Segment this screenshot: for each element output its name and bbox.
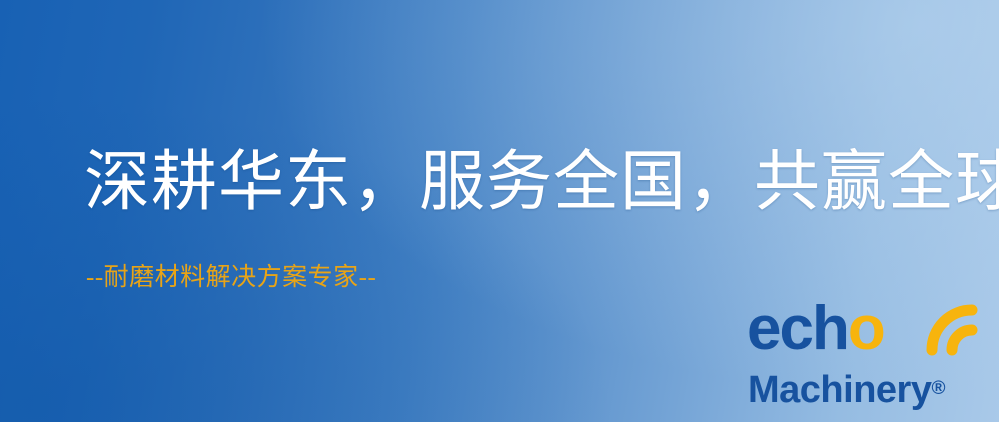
logo-wordmark-prefix: ech bbox=[747, 294, 848, 363]
logo-subtext-label: Machinery bbox=[748, 369, 931, 411]
signal-arcs-icon bbox=[916, 296, 994, 366]
logo-subtext: Machinery® bbox=[748, 371, 945, 409]
company-logo[interactable]: echo Machinery® bbox=[742, 296, 994, 418]
page-subtitle: --耐磨材料解决方案专家-- bbox=[86, 265, 376, 290]
logo-wordmark-highlight: o bbox=[848, 294, 884, 363]
registered-trademark-mark: ® bbox=[931, 378, 945, 399]
page-title: 深耕华东，服务全国，共赢全球 bbox=[84, 150, 999, 216]
logo-wordmark: echo bbox=[747, 298, 884, 360]
promo-banner: 深耕华东，服务全国，共赢全球 --耐磨材料解决方案专家-- echo Machi… bbox=[0, 0, 999, 422]
